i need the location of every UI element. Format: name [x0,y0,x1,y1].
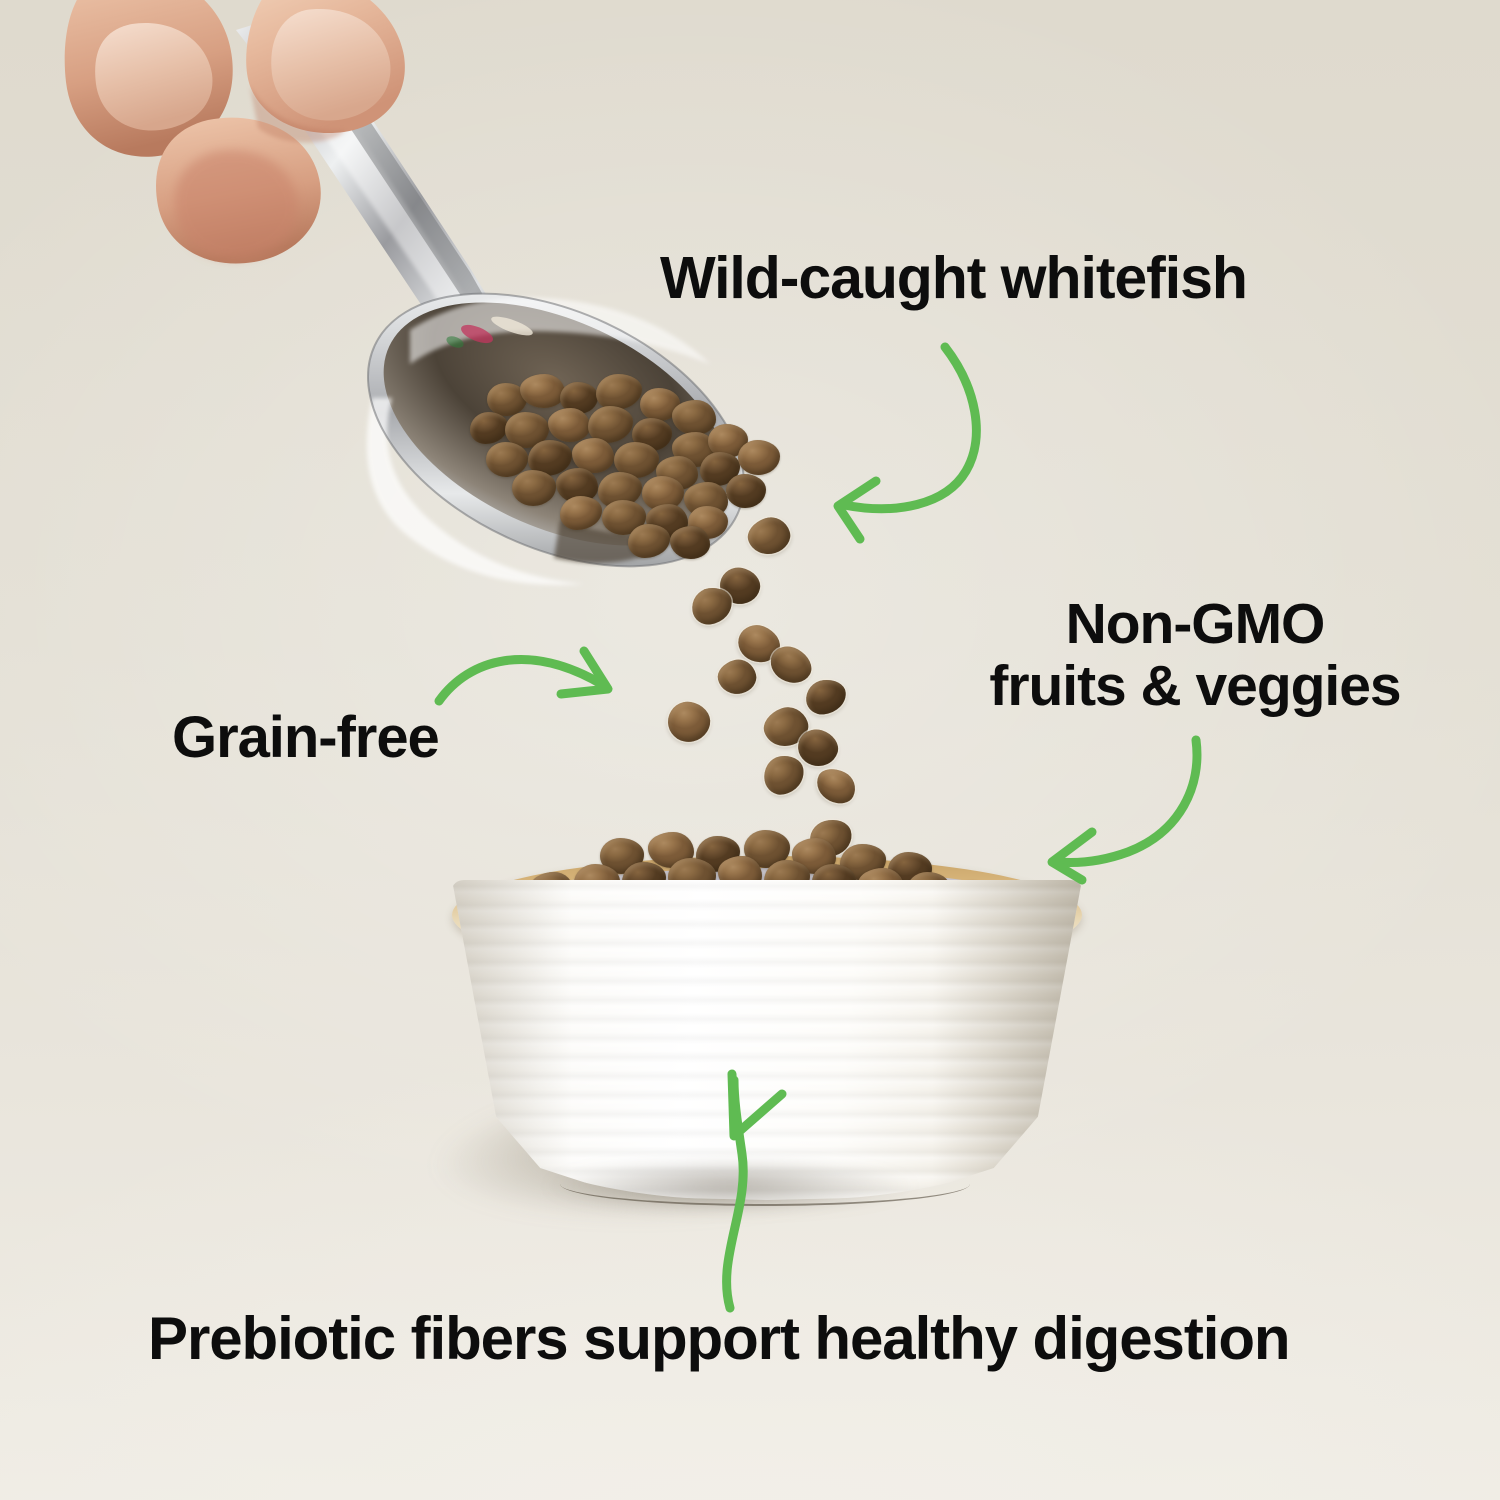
product-feature-image: Wild-caught whitefish Non-GMO fruits & v… [0,0,1500,1500]
callout-label-non-gmo-line1: Non-GMO [1066,592,1325,656]
arrow-to-scoop [800,325,1030,535]
callout-label-non-gmo-line2: fruits & veggies [960,656,1430,718]
callout-label-non-gmo: Non-GMO fruits & veggies [960,594,1430,717]
callout-label-prebiotic: Prebiotic fibers support healthy digesti… [148,1307,1289,1372]
callout-label-grain-free: Grain-free [172,707,439,770]
callout-label-whitefish: Wild-caught whitefish [660,247,1247,311]
arrow-to-bowl-body [690,1058,835,1313]
arrow-to-bowl-kibble [1030,728,1245,873]
arrow-to-falling-kibble [425,625,640,730]
